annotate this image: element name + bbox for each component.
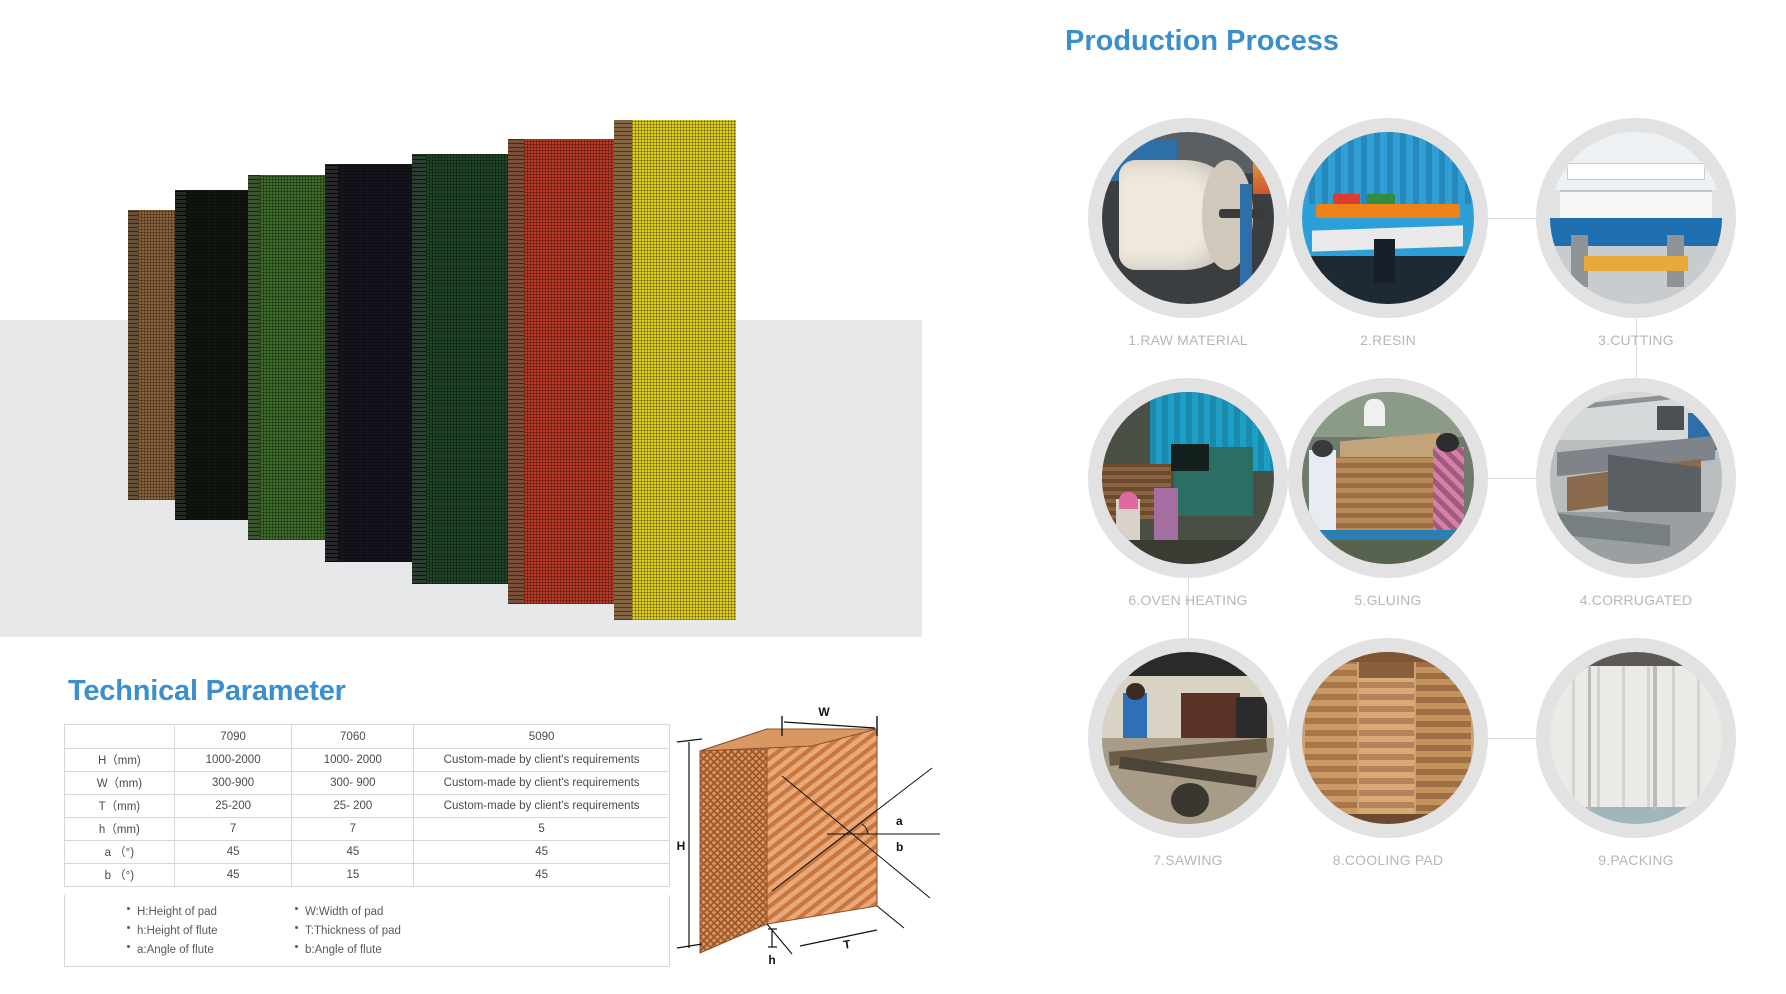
technical-parameter-table: 7090 7060 5090 H（mm) 1000-2000 1000- 200… [64, 724, 670, 887]
flow-connector [1488, 478, 1536, 479]
process-step-7[interactable]: 7.SAWING [1088, 638, 1288, 868]
table-row: h（mm) 7 7 5 [65, 818, 670, 841]
panel-face [260, 175, 332, 540]
step-label: 7.SAWING [1088, 852, 1288, 868]
process-step-2[interactable]: 2.RESIN [1288, 118, 1488, 348]
step-ring [1288, 378, 1488, 578]
table-header-cell: 5090 [414, 725, 670, 749]
step-label: 8.COOLING PAD [1288, 852, 1488, 868]
table-cell: 1000-2000 [174, 749, 292, 772]
step-ring [1536, 378, 1736, 578]
step-label: 2.RESIN [1288, 332, 1488, 348]
legend-column-right: W:Width of pad T:Thickness of pad b:Angl… [295, 903, 401, 960]
cooling-pad-panel [338, 164, 418, 562]
diagram-label-b: b [896, 840, 903, 854]
table-cell: 45 [414, 841, 670, 864]
technical-parameter-title: Technical Parameter [68, 675, 346, 708]
step-label: 9.PACKING [1536, 852, 1736, 868]
process-step-8[interactable]: 8.COOLING PAD [1288, 638, 1488, 868]
step-ring [1536, 638, 1736, 838]
step-ring [1536, 118, 1736, 318]
pad-dimension-diagram: W H a b T h [672, 706, 944, 968]
process-step-4[interactable]: 4.CORRUGATED [1536, 378, 1736, 608]
table-cell: H（mm) [65, 749, 175, 772]
table-cell: Custom-made by client's requirements [414, 772, 670, 795]
table-cell: 7 [292, 818, 414, 841]
panel-face [426, 154, 514, 584]
cooling-pad-panel [632, 120, 736, 620]
table-cell: h（mm) [65, 818, 175, 841]
production-process-flow: 1.RAW MATERIAL 2.RESIN [1040, 118, 1756, 918]
production-process-title: Production Process [1065, 25, 1339, 58]
table-row: W（mm) 300-900 300- 900 Custom-made by cl… [65, 772, 670, 795]
diagram-label-a: a [896, 814, 903, 828]
step-label: 3.CUTTING [1536, 332, 1736, 348]
flow-connector [1488, 738, 1536, 739]
corrugating-line-photo-icon [1550, 392, 1722, 564]
process-step-6[interactable]: 6.OVEN HEATING [1088, 378, 1288, 608]
diagram-label-h: h [768, 953, 775, 967]
table-cell: W（mm) [65, 772, 175, 795]
packed-pads-photo-icon [1550, 652, 1722, 824]
stacked-cooling-pads-photo-icon [1302, 652, 1474, 824]
product-photo [120, 100, 820, 620]
process-step-9[interactable]: 9.PACKING [1536, 638, 1736, 868]
panel-face [524, 139, 620, 604]
table-cell: Custom-made by client's requirements [414, 795, 670, 818]
diagram-label-W: W [818, 706, 830, 719]
table-row: b （°) 45 15 45 [65, 864, 670, 887]
table-cell: 45 [174, 841, 292, 864]
table-row: a （°) 45 45 45 [65, 841, 670, 864]
diagram-label-T: T [842, 937, 852, 952]
table-cell: Custom-made by client's requirements [414, 749, 670, 772]
cooling-pad-panel [524, 139, 620, 604]
cutting-machine-photo-icon [1550, 132, 1722, 304]
table-cell: 5 [414, 818, 670, 841]
panel-face [632, 120, 736, 620]
technical-parameter-legend: H:Height of pad h:Height of flute a:Angl… [64, 895, 670, 967]
table-cell: 1000- 2000 [292, 749, 414, 772]
step-ring [1088, 378, 1288, 578]
step-ring [1088, 638, 1288, 838]
page-root: Technical Parameter 7090 7060 5090 H（mm)… [0, 0, 1786, 994]
table-cell: 45 [414, 864, 670, 887]
legend-item: a:Angle of flute [127, 941, 218, 960]
process-step-1[interactable]: 1.RAW MATERIAL [1088, 118, 1288, 348]
step-ring [1288, 118, 1488, 318]
flow-connector [1488, 218, 1536, 219]
legend-column-left: H:Height of pad h:Height of flute a:Angl… [127, 903, 218, 960]
panel-face [338, 164, 418, 562]
table-row: H（mm) 1000-2000 1000- 2000 Custom-made b… [65, 749, 670, 772]
sawing-machine-photo-icon [1102, 652, 1274, 824]
step-ring [1288, 638, 1488, 838]
table-cell: 25- 200 [292, 795, 414, 818]
table-header-row: 7090 7060 5090 [65, 725, 670, 749]
oven-heating-photo-icon [1102, 392, 1274, 564]
cooling-pad-panel [260, 175, 332, 540]
panel-face [186, 190, 254, 520]
step-ring [1088, 118, 1288, 318]
resin-machine-photo-icon [1302, 132, 1474, 304]
diagram-label-H: H [677, 839, 686, 853]
step-label: 4.CORRUGATED [1536, 592, 1736, 608]
panel-side [614, 120, 634, 620]
table-cell: T（mm) [65, 795, 175, 818]
table-cell: a （°) [65, 841, 175, 864]
legend-item: b:Angle of flute [295, 941, 401, 960]
cooling-pad-panel [186, 190, 254, 520]
process-step-3[interactable]: 3.CUTTING [1536, 118, 1736, 348]
table-cell: 300-900 [174, 772, 292, 795]
raw-material-photo-icon [1102, 132, 1274, 304]
legend-item: h:Height of flute [127, 922, 218, 941]
table-row: T（mm) 25-200 25- 200 Custom-made by clie… [65, 795, 670, 818]
legend-item: W:Width of pad [295, 903, 401, 922]
step-label: 1.RAW MATERIAL [1088, 332, 1288, 348]
table-cell: 300- 900 [292, 772, 414, 795]
step-label: 5.GLUING [1288, 592, 1488, 608]
table-header-cell: 7090 [174, 725, 292, 749]
table-cell: b （°) [65, 864, 175, 887]
process-step-5[interactable]: 5.GLUING [1288, 378, 1488, 608]
table-cell: 15 [292, 864, 414, 887]
table-cell: 25-200 [174, 795, 292, 818]
step-label: 6.OVEN HEATING [1088, 592, 1288, 608]
table-header-cell: 7060 [292, 725, 414, 749]
gluing-workers-photo-icon [1302, 392, 1474, 564]
legend-item: T:Thickness of pad [295, 922, 401, 941]
table-cell: 45 [174, 864, 292, 887]
table-cell: 45 [292, 841, 414, 864]
legend-item: H:Height of pad [127, 903, 218, 922]
cooling-pad-panel [426, 154, 514, 584]
diagram-svg: W H a b T h [672, 706, 944, 968]
table-header-cell [65, 725, 175, 749]
table-cell: 7 [174, 818, 292, 841]
